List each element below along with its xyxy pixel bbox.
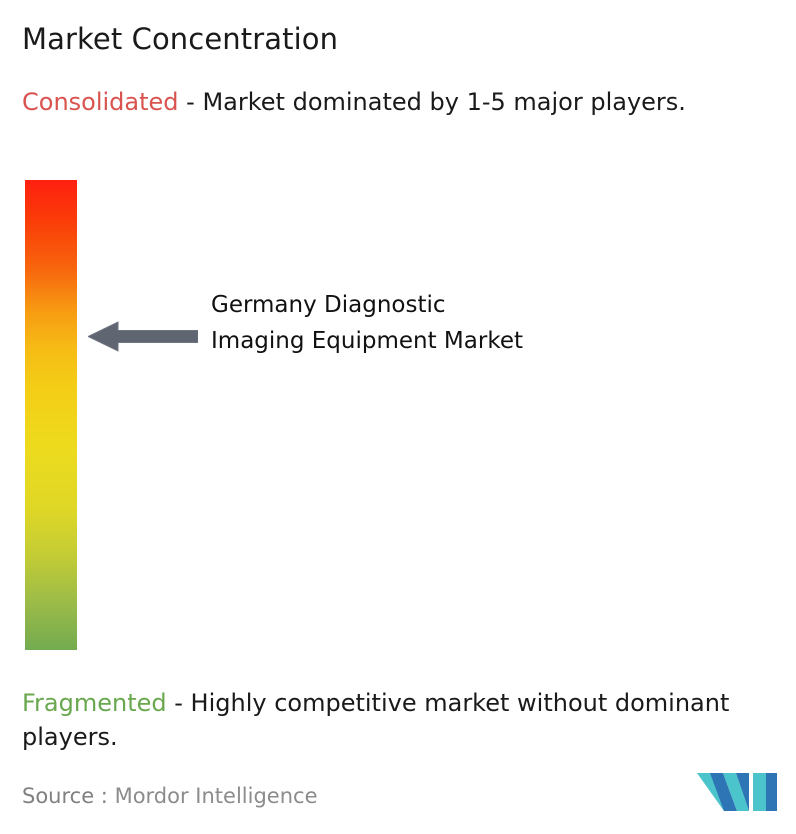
mordor-intelligence-logo-icon [697, 769, 777, 815]
legend-description-consolidated: - Market dominated by 1-5 major players. [179, 88, 686, 116]
market-concentration-chart: Market Concentration Consolidated - Mark… [0, 0, 796, 834]
legend-term-consolidated: Consolidated [22, 88, 179, 116]
legend-fragmented: Fragmented - Highly competitive market w… [22, 686, 782, 754]
source-attribution: Source : Mordor Intelligence [22, 781, 317, 811]
left-arrow-icon [88, 320, 198, 353]
legend-consolidated: Consolidated - Market dominated by 1-5 m… [22, 85, 774, 119]
source-value: Mordor Intelligence [115, 784, 318, 808]
source-label: Source : [22, 784, 108, 808]
page-title: Market Concentration [22, 20, 338, 58]
concentration-gradient-scale-bar [25, 180, 77, 650]
annotation-label: Germany Diagnostic Imaging Equipment Mar… [211, 287, 541, 359]
legend-term-fragmented: Fragmented [22, 689, 167, 717]
